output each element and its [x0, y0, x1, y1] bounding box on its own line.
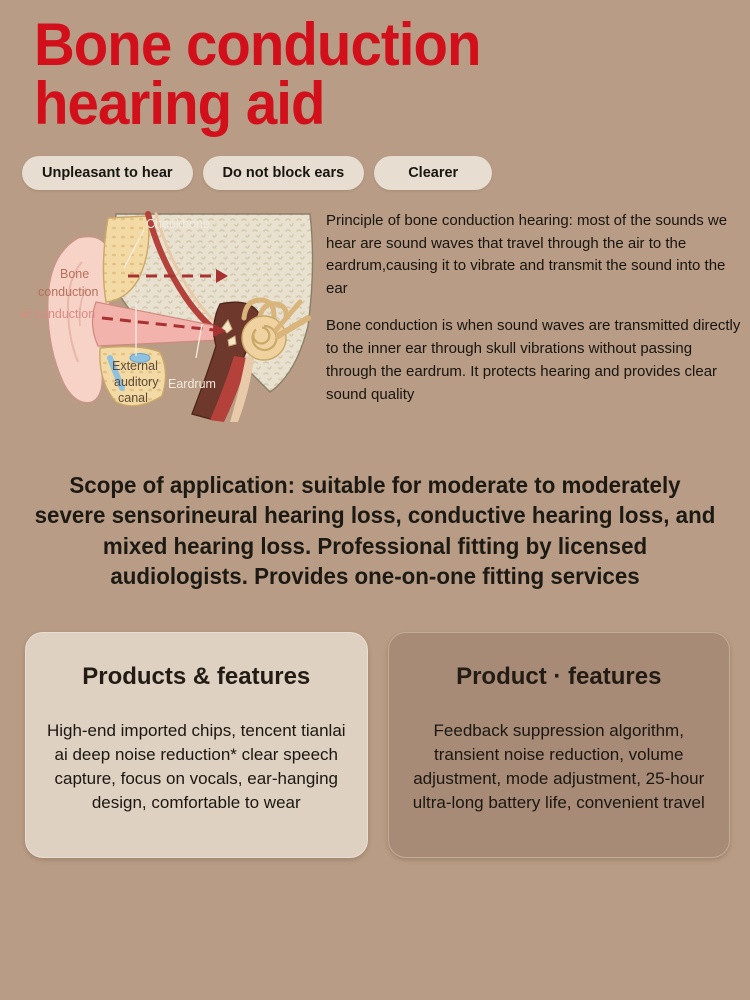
scope-of-application-text: Scope of application: suitable for moder… — [33, 470, 718, 592]
pill-unpleasant-to-hear[interactable]: Unpleasant to hear — [22, 156, 193, 190]
card-right-body: Feedback suppression algorithm, transien… — [403, 719, 716, 816]
page-header: Bone conduction hearing aid — [0, 0, 750, 134]
principle-text-block: Principle of bone conduction hearing: mo… — [326, 210, 746, 426]
card-product-features: Product · features Feedback suppression … — [388, 632, 731, 858]
label-bone-conduction-line2: conduction — [38, 285, 99, 299]
label-external-canal-line2: auditory — [114, 375, 159, 389]
principle-paragraph-2: Bone conduction is when sound waves are … — [326, 315, 746, 407]
feature-cards-row: Products & features High-end imported ch… — [25, 632, 730, 858]
feature-pill-row: Unpleasant to hear Do not block ears Cle… — [0, 134, 750, 190]
card-left-body: High-end imported chips, tencent tianlai… — [40, 719, 353, 816]
page-title-line-2: hearing aid — [34, 75, 707, 134]
card-products-and-features: Products & features High-end imported ch… — [25, 632, 368, 858]
label-bone-conduction-line1: Bone — [60, 267, 89, 281]
card-right-title: Product · features — [403, 663, 716, 691]
label-external-canal-line3: canal — [118, 391, 148, 405]
card-left-title: Products & features — [40, 663, 353, 691]
principle-paragraph-1: Principle of bone conduction hearing: mo… — [326, 210, 746, 302]
label-external-canal-line1: External — [112, 359, 158, 373]
label-cheekbone: Cheekbone — [146, 217, 210, 231]
pill-clearer[interactable]: Clearer — [374, 156, 492, 190]
label-eardrum: Eardrum — [168, 377, 216, 391]
ear-anatomy-diagram: Cheekbone Bone conduction Air conduction… — [20, 206, 320, 426]
label-air-conduction: Air conduction — [20, 307, 95, 321]
page-title-line-1: Bone conduction — [34, 16, 707, 75]
pill-do-not-block-ears[interactable]: Do not block ears — [203, 156, 365, 190]
principle-section: Cheekbone Bone conduction Air conduction… — [0, 206, 750, 426]
